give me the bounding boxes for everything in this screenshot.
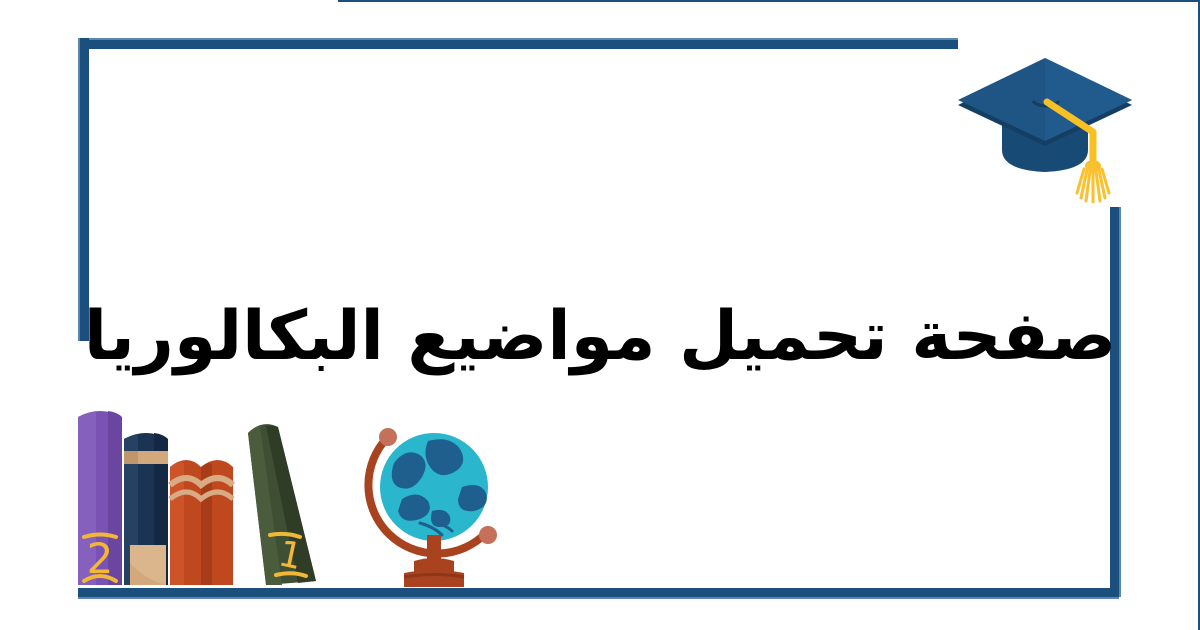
book-purple: 2 — [78, 411, 122, 585]
book-orange — [170, 460, 233, 585]
book-green-tilted: 1 — [248, 424, 316, 585]
frame-top-inner-rule — [338, 0, 1200, 2]
page-title: صفحة تحميل مواضيع البكالوريا — [0, 294, 1200, 379]
poster-canvas: 2 — [0, 0, 1200, 630]
frame-top-rule — [78, 38, 958, 49]
svg-text:2: 2 — [87, 534, 114, 583]
book-navy — [124, 433, 168, 585]
frame-right-rule — [1110, 207, 1121, 597]
stack-of-books-icon: 2 — [70, 385, 370, 595]
desk-globe-icon — [358, 415, 518, 595]
graduation-cap-icon — [950, 58, 1140, 203]
